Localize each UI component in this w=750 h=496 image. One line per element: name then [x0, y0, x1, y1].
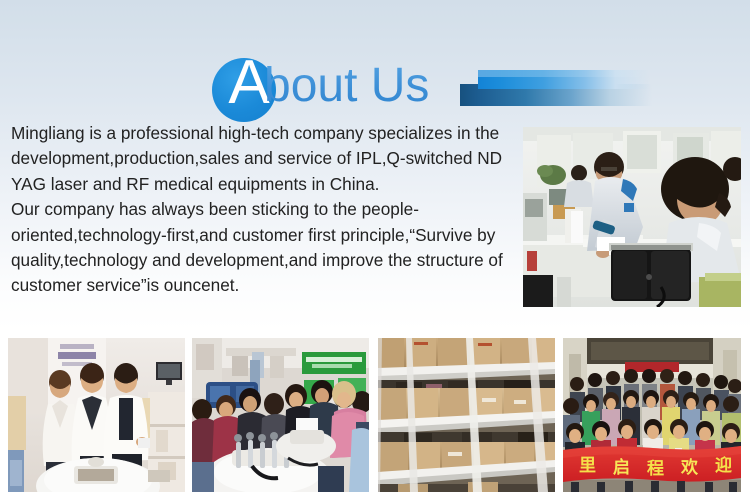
photo-exhibition-crowd-image	[192, 338, 369, 492]
about-us-page: A bout Us Mingliang is a professional hi…	[0, 0, 750, 496]
svg-text:程: 程	[647, 459, 664, 479]
page-title: bout Us	[264, 55, 429, 117]
photo-factory-assembly-workshop-image	[523, 127, 741, 307]
photo-warehouse-shelving-image	[378, 338, 555, 492]
photo-trade-show-booth-staff	[8, 338, 185, 492]
photo-warehouse-shelving	[378, 338, 555, 492]
photo-company-group-photo: 里 启 程 欢 迎	[563, 338, 741, 492]
svg-text:里: 里	[579, 456, 596, 476]
svg-text:欢: 欢	[680, 457, 699, 478]
page-header: A bout Us	[0, 22, 750, 102]
about-text-block: Mingliang is a professional high-tech co…	[11, 121, 519, 299]
photo-exhibition-crowd	[192, 338, 369, 492]
svg-text:迎: 迎	[715, 455, 732, 476]
about-paragraph-1: Mingliang is a professional high-tech co…	[11, 121, 519, 197]
svg-text:启: 启	[613, 457, 630, 478]
photo-trade-show-booth-staff-image	[8, 338, 185, 492]
photo-factory-assembly-workshop	[523, 127, 741, 307]
about-paragraph-2: Our company has always been sticking to …	[11, 197, 519, 299]
decorative-bar-highlight	[478, 70, 650, 77]
photo-company-group-photo-image: 里 启 程 欢 迎	[563, 338, 741, 492]
